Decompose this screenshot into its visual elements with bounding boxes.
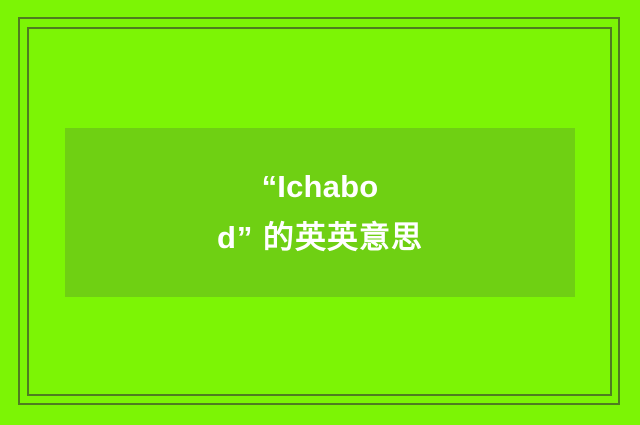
slide-canvas: “Ichabo d” 的英英意思	[0, 0, 640, 425]
page-title: “Ichabo d” 的英英意思	[65, 162, 575, 262]
title-card: “Ichabo d” 的英英意思	[65, 128, 575, 297]
title-line-2: d” 的英英意思	[175, 213, 465, 263]
title-line-1: “Ichabo	[175, 162, 465, 212]
